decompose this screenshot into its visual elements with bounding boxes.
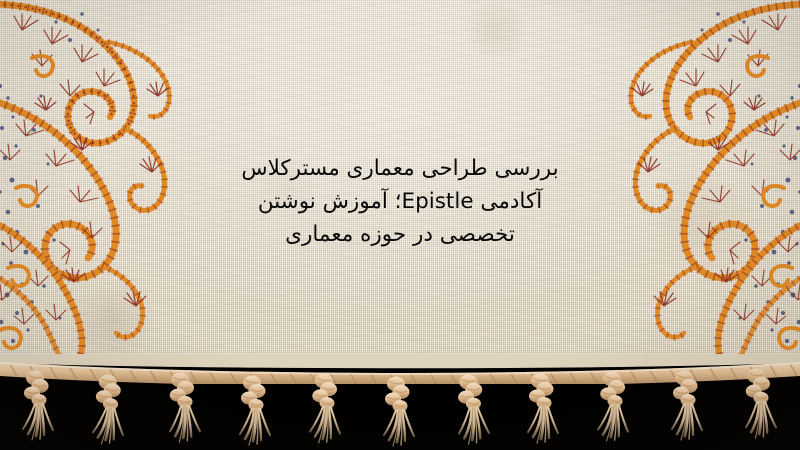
fringe-tassels [0, 360, 800, 450]
textile-fringe [0, 354, 800, 450]
title-card-slide: بررسی طراحی معماری مسترکلاس آکادمی Epist… [0, 0, 800, 450]
fabric-weave-texture [0, 0, 800, 372]
fabric-slub-texture [0, 0, 800, 372]
textile-background [0, 0, 800, 372]
fabric-aging-stains [0, 0, 800, 372]
tassel-row [23, 368, 776, 446]
